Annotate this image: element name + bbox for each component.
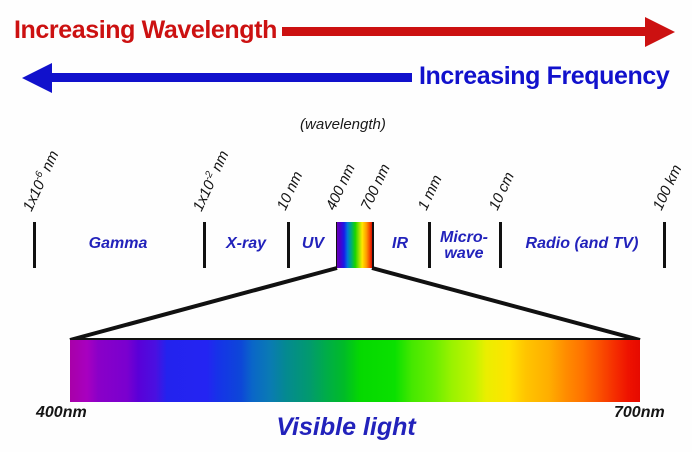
spectrum-band-label: Gamma — [63, 236, 173, 252]
magnifier-funnel-lines — [0, 255, 692, 350]
axis-tick-label: 400 nm — [323, 162, 359, 213]
axis-tick-label: 1x10-6 nm — [19, 148, 63, 214]
wavelength-axis-caption: (wavelength) — [300, 116, 386, 133]
wavelength-arrow-head-icon — [645, 17, 675, 47]
spectrum-band-label: UV — [290, 236, 336, 252]
axis-tick-label: 1 mm — [415, 173, 446, 213]
axis-tick-label: 100 km — [650, 162, 686, 213]
increasing-wavelength-label: Increasing Wavelength — [14, 16, 277, 45]
visible-light-spectrum-bar — [70, 340, 640, 402]
em-spectrum-diagram: Increasing Wavelength Increasing Frequen… — [0, 0, 692, 452]
frequency-arrow-shaft — [40, 73, 412, 82]
wavelength-arrow-shaft — [282, 27, 652, 36]
spectrum-band-label: X-ray — [211, 236, 281, 252]
axis-tick-label: 700 nm — [358, 162, 394, 213]
axis-tick-label: 10 nm — [274, 169, 307, 213]
axis-tick-label: 10 cm — [486, 170, 518, 213]
increasing-frequency-label: Increasing Frequency — [419, 62, 669, 91]
spectrum-band-label: IR — [375, 236, 425, 252]
visible-light-caption: Visible light — [0, 413, 692, 442]
axis-tick-label: 1x10-2 nm — [189, 148, 233, 214]
spectrum-band-label: Radio (and TV) — [507, 236, 657, 252]
